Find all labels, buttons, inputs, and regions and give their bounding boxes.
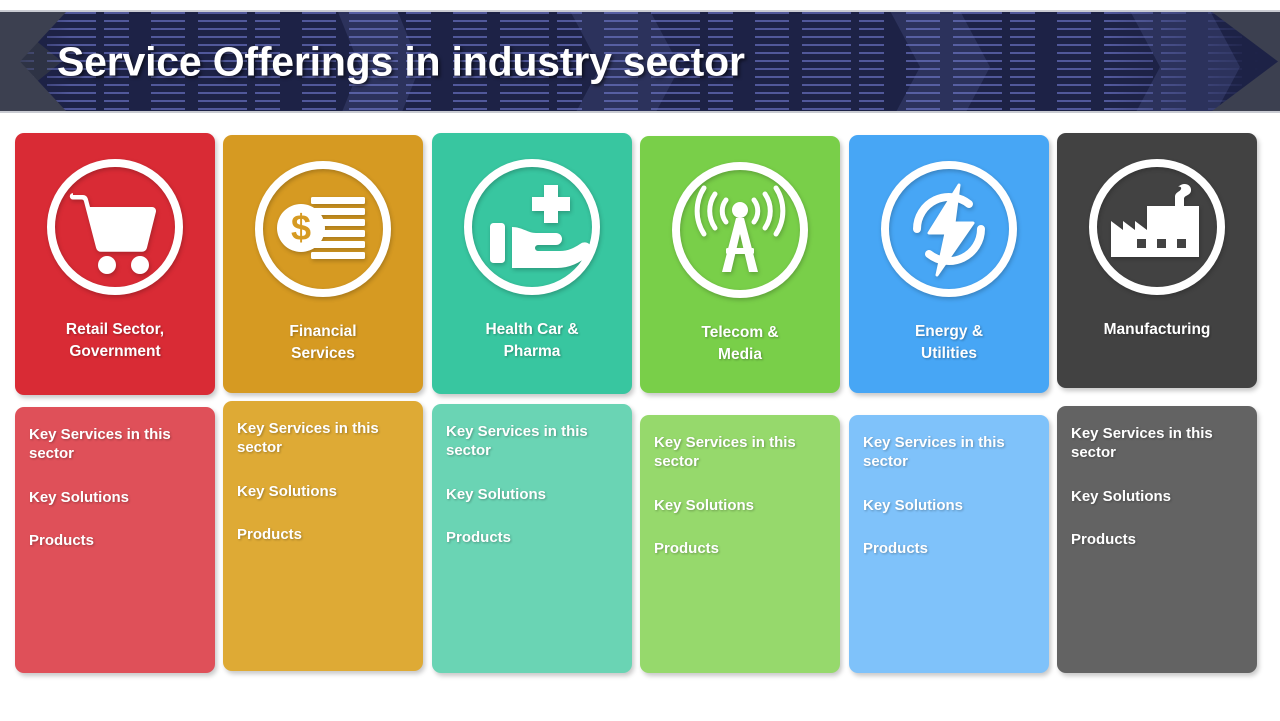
detail-item: Key Solutions — [654, 497, 826, 516]
sector-columns: Retail Sector, GovernmentKey Services in… — [15, 133, 1265, 673]
shopping-cart-icon — [39, 151, 191, 303]
sector-card-label: Telecom & Media — [695, 322, 784, 366]
broadcast-tower-icon — [664, 154, 816, 306]
sector-details-manufacturing[interactable]: Key Services in this sectorKey Solutions… — [1057, 406, 1257, 673]
detail-item: Key Services in this sector — [654, 434, 826, 472]
sector-details-financial[interactable]: Key Services in this sectorKey Solutions… — [223, 401, 423, 671]
sector-card-label: Retail Sector, Government — [60, 319, 170, 363]
detail-item: Products — [863, 540, 1035, 559]
detail-item: Key Services in this sector — [237, 420, 409, 458]
lightning-bolt-icon — [873, 153, 1025, 305]
svg-text:$: $ — [291, 207, 311, 248]
detail-item: Key Services in this sector — [29, 426, 201, 464]
sector-card-retail[interactable]: Retail Sector, Government — [15, 133, 215, 395]
detail-item: Key Solutions — [237, 483, 409, 502]
detail-item: Products — [654, 540, 826, 559]
detail-item: Products — [1071, 531, 1243, 550]
sector-details-telecom[interactable]: Key Services in this sectorKey Solutions… — [640, 415, 840, 673]
title-banner: Service Offerings in industry sector — [0, 10, 1280, 113]
slide-canvas: Service Offerings in industry sector Ret… — [0, 0, 1280, 721]
detail-item: Products — [237, 526, 409, 545]
sector-details-energy[interactable]: Key Services in this sectorKey Solutions… — [849, 415, 1049, 673]
page-title: Service Offerings in industry sector — [57, 38, 745, 85]
sector-card-manufacturing[interactable]: Manufacturing — [1057, 133, 1257, 388]
sector-card-financial[interactable]: $Financial Services — [223, 135, 423, 393]
hand-medical-cross-icon — [456, 151, 608, 303]
factory-icon — [1081, 151, 1233, 303]
sector-card-label: Health Car & Pharma — [479, 319, 584, 363]
detail-item: Products — [29, 532, 201, 551]
detail-item: Key Services in this sector — [446, 423, 618, 461]
detail-item: Key Services in this sector — [1071, 425, 1243, 463]
sector-card-label: Manufacturing — [1098, 319, 1217, 341]
money-coin-bills-icon: $ — [247, 153, 399, 305]
sector-card-label: Financial Services — [283, 321, 362, 365]
detail-item: Key Solutions — [29, 489, 201, 508]
sector-card-health[interactable]: Health Car & Pharma — [432, 133, 632, 394]
detail-item: Key Services in this sector — [863, 434, 1035, 472]
detail-item: Products — [446, 529, 618, 548]
detail-item: Key Solutions — [863, 497, 1035, 516]
sector-details-health[interactable]: Key Services in this sectorKey Solutions… — [432, 404, 632, 673]
sector-card-energy[interactable]: Energy & Utilities — [849, 135, 1049, 393]
detail-item: Key Solutions — [446, 486, 618, 505]
sector-card-telecom[interactable]: Telecom & Media — [640, 136, 840, 393]
detail-item: Key Solutions — [1071, 488, 1243, 507]
sector-details-retail[interactable]: Key Services in this sectorKey Solutions… — [15, 407, 215, 673]
sector-card-label: Energy & Utilities — [909, 321, 989, 365]
